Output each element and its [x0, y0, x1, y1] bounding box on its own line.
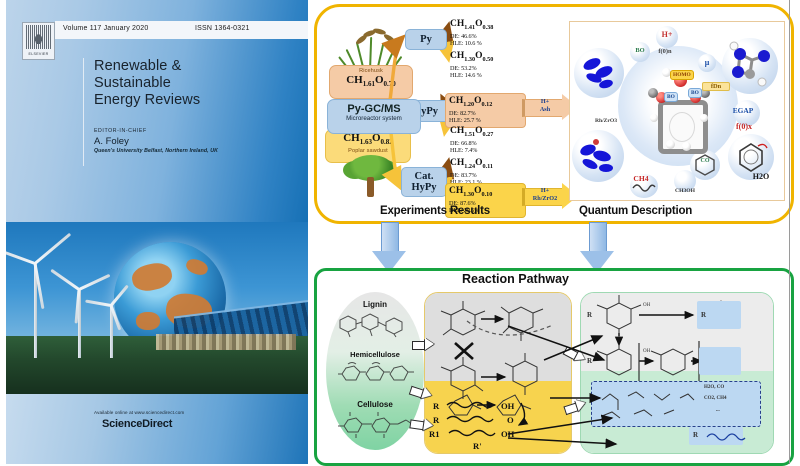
quantum-label-bo: BO: [628, 47, 652, 54]
editor-in-chief-label: EDITOR-IN-CHIEF: [94, 128, 147, 134]
right-OH-2: OH: [643, 349, 650, 354]
molecule-atom-hydrogen-2: [650, 114, 658, 122]
product-chip-cyclic: [699, 347, 741, 375]
stage-cat-hypy-label-2: HyPy: [411, 182, 436, 193]
upgrade-arrow-ash-label: H+ Ash: [528, 98, 562, 113]
stage-cat-hypy: Cat. HyPy: [401, 167, 447, 197]
product-4: CH1.51O0.27 DE: 66.8% HLE: 7.4%: [450, 126, 493, 155]
biomass-label-hemicellulose: Hemicellulose: [326, 350, 424, 359]
molecule-atom-hydrogen-3: [700, 114, 708, 122]
product-2-hle: HLE: 14.6 %: [450, 72, 493, 79]
elsevier-tree-icon: [26, 25, 51, 49]
py-gcms-subtitle: Microreactor system: [328, 115, 420, 122]
product-1-hle: HLE: 10.6 %: [450, 40, 493, 47]
right-R-1: R: [587, 311, 592, 319]
gas-line-1: H2O, CO: [704, 385, 724, 390]
experiments-results-title: Experiments Results: [380, 205, 490, 217]
experiments-and-quantum-box: Ricehusk CH1.61O0.70 CH1.63O0.82 Poplar …: [314, 4, 794, 224]
quantum-label-proton: H+: [656, 30, 678, 39]
village-buildings: [156, 334, 296, 350]
product-4-hle: HLE: 7.4%: [450, 147, 493, 154]
journal-cover: Volume 117 January 2020 ISSN 1364-0321 E…: [6, 0, 308, 464]
quantum-label-egap: EGAP: [730, 106, 756, 115]
wind-turbine-3: [110, 304, 113, 358]
molecule-atom-carbon-left: [648, 88, 658, 98]
product-5-formula: CH1.24O0.11: [450, 158, 493, 172]
feedstock-ricehusk-formula: CH1.61O0.70: [330, 74, 412, 90]
sciencedirect-wordmark: ScienceDirect: [102, 418, 172, 430]
product-2-formula: CH1.30O0.50: [450, 51, 493, 65]
product-2: CH1.30O0.50 DE: 53.2% HLE: 14.6 %: [450, 51, 493, 80]
feedstock-poplar-formula: CH1.63O0.82: [326, 132, 410, 148]
central-molecule-model: HOMO BO BO: [648, 66, 710, 152]
molecule-atom-hydrogen-5: [682, 142, 691, 151]
flow-arrow-right: [580, 222, 614, 274]
quantum-bubble-blue-structure-left: [574, 48, 624, 98]
product-1-formula: CH1.41O0.38: [450, 19, 493, 33]
quantum-description-panel: HOMO BO BO H+ BO f(0)n μ fDn EGAP f(0)x …: [569, 21, 785, 201]
feedstock-poplar-label: Poplar sawdust: [326, 148, 410, 154]
elsevier-logo: ELSEVIER: [22, 22, 55, 60]
journal-title-line-3: Energy Reviews: [94, 92, 294, 109]
quantum-label-f0x: f(0)x: [726, 122, 762, 131]
alkane-zigzag: [705, 429, 751, 443]
stage-py: Py: [405, 29, 447, 50]
gas-products-dashed-box: H2O, CO CO2, CH4 ...: [591, 381, 761, 427]
quantum-description-title: Quantum Description: [579, 205, 692, 217]
quantum-label-methanol: CH3OH: [668, 188, 702, 194]
wind-turbine-1: [34, 262, 37, 358]
quantum-label-f0n: f(0)n: [652, 48, 678, 55]
quantum-label-mu: μ: [698, 58, 716, 67]
cover-header-bar: Volume 117 January 2020 ISSN 1364-0321: [55, 21, 308, 39]
product-1: CH1.41O0.38 DE: 46.6% HLE: 10.6 %: [450, 19, 493, 48]
gas-precursor-structures: [594, 384, 704, 426]
graphical-abstract: Ricehusk CH1.61O0.70 CH1.63O0.82 Poplar …: [312, 0, 790, 464]
editor-in-chief-name: A. Foley: [94, 136, 129, 147]
stage-py-label: Py: [420, 34, 432, 45]
gas-line-3: ...: [716, 408, 720, 413]
stage-cat-hypy-label-1: Cat.: [415, 171, 434, 182]
molecule-atom-hydrogen-4: [666, 140, 675, 149]
intermediate-reactions-box: R R R1 OH O OH R': [424, 292, 572, 454]
cellulose-structure-icon: [336, 412, 416, 440]
py-gcms-system-box: Py-GC/MS Microreactor system: [327, 99, 421, 134]
gas-line-2: CO2, CH4: [704, 396, 727, 401]
right-R-3: R: [701, 311, 706, 319]
page-divider: [789, 0, 790, 464]
product-3-formula: CH1.20O0.12: [449, 96, 522, 110]
journal-title-line-1: Renewable &: [94, 58, 294, 75]
right-OH-1: OH: [643, 303, 650, 308]
journal-title-line-2: Sustainable: [94, 75, 294, 92]
aliphatic-chain-lines: [425, 395, 571, 454]
cover-volume-text: Volume 117 January 2020: [63, 25, 148, 32]
product-4-de: DE: 66.8%: [450, 140, 493, 147]
product-3-de: DE: 82.7%: [449, 110, 522, 117]
biomass-label-cellulose: Cellulose: [326, 400, 424, 409]
quantum-label-water: H2O: [746, 172, 776, 181]
product-3-hle: HLE: 25.7 %: [449, 117, 522, 124]
available-online-text: Available online at www.sciencedirect.co…: [94, 410, 184, 415]
biomass-label-lignin: Lignin: [326, 300, 424, 309]
flow-arrow-left: [372, 222, 406, 274]
right-R-4: R: [693, 431, 698, 439]
lignin-structure-icon: [336, 310, 416, 338]
quantum-label-co: CO: [692, 158, 718, 164]
product-5-de: DE: 83.7%: [450, 172, 493, 179]
quantum-label-catalyst: Rh/ZrO3: [586, 118, 626, 124]
cover-issn-text: ISSN 1364-0321: [195, 25, 250, 32]
graphical-abstract-page: Volume 117 January 2020 ISSN 1364-0321 E…: [0, 0, 800, 464]
py-gcms-title: Py-GC/MS: [328, 103, 420, 115]
product-2-de: DE: 53.2%: [450, 65, 493, 72]
upgrade-arrow-catalyst-label: H+ Rh/ZrO2: [528, 187, 562, 202]
feedstock-ricehusk: Ricehusk CH1.61O0.70: [329, 65, 413, 99]
quantum-bubble-blue-structure-lower-left: [572, 130, 624, 182]
molecule-tag-bo-right: BO: [688, 88, 702, 98]
quantum-bubble-molecule-top-right: [722, 38, 778, 94]
right-R-2: R: [587, 357, 592, 365]
wind-turbine-2: [78, 288, 81, 358]
product-1-de: DE: 46.6%: [450, 33, 493, 40]
poplar-tree-icon: [343, 155, 399, 197]
product-3: CH1.20O0.12 DE: 82.7% HLE: 25.7 %: [445, 93, 526, 128]
product-4-formula: CH1.51O0.27: [450, 126, 493, 140]
quantum-label-methane: CH4: [628, 174, 654, 183]
cover-photograph: [6, 222, 308, 394]
final-products-box: H2O, CO CO2, CH4 ... R R R R OH OH: [580, 292, 774, 454]
product-6-formula: CH1.30O0.10: [449, 186, 522, 200]
molecule-tag-bo-left: BO: [664, 92, 678, 102]
editor-affiliation: Queen's University Belfast, Northern Ire…: [94, 148, 218, 154]
reaction-pathway-title: Reaction Pathway: [462, 272, 569, 286]
elsevier-wordmark: ELSEVIER: [25, 51, 52, 57]
molecule-tag-homo: HOMO: [670, 70, 694, 80]
quantum-label-fdn: fDn: [702, 82, 730, 91]
white-arrow-lignin: [412, 338, 434, 351]
journal-title: Renewable & Sustainable Energy Reviews: [94, 58, 294, 109]
hemicellulose-structure-icon: [336, 360, 416, 388]
cover-vertical-rule: [83, 58, 84, 166]
